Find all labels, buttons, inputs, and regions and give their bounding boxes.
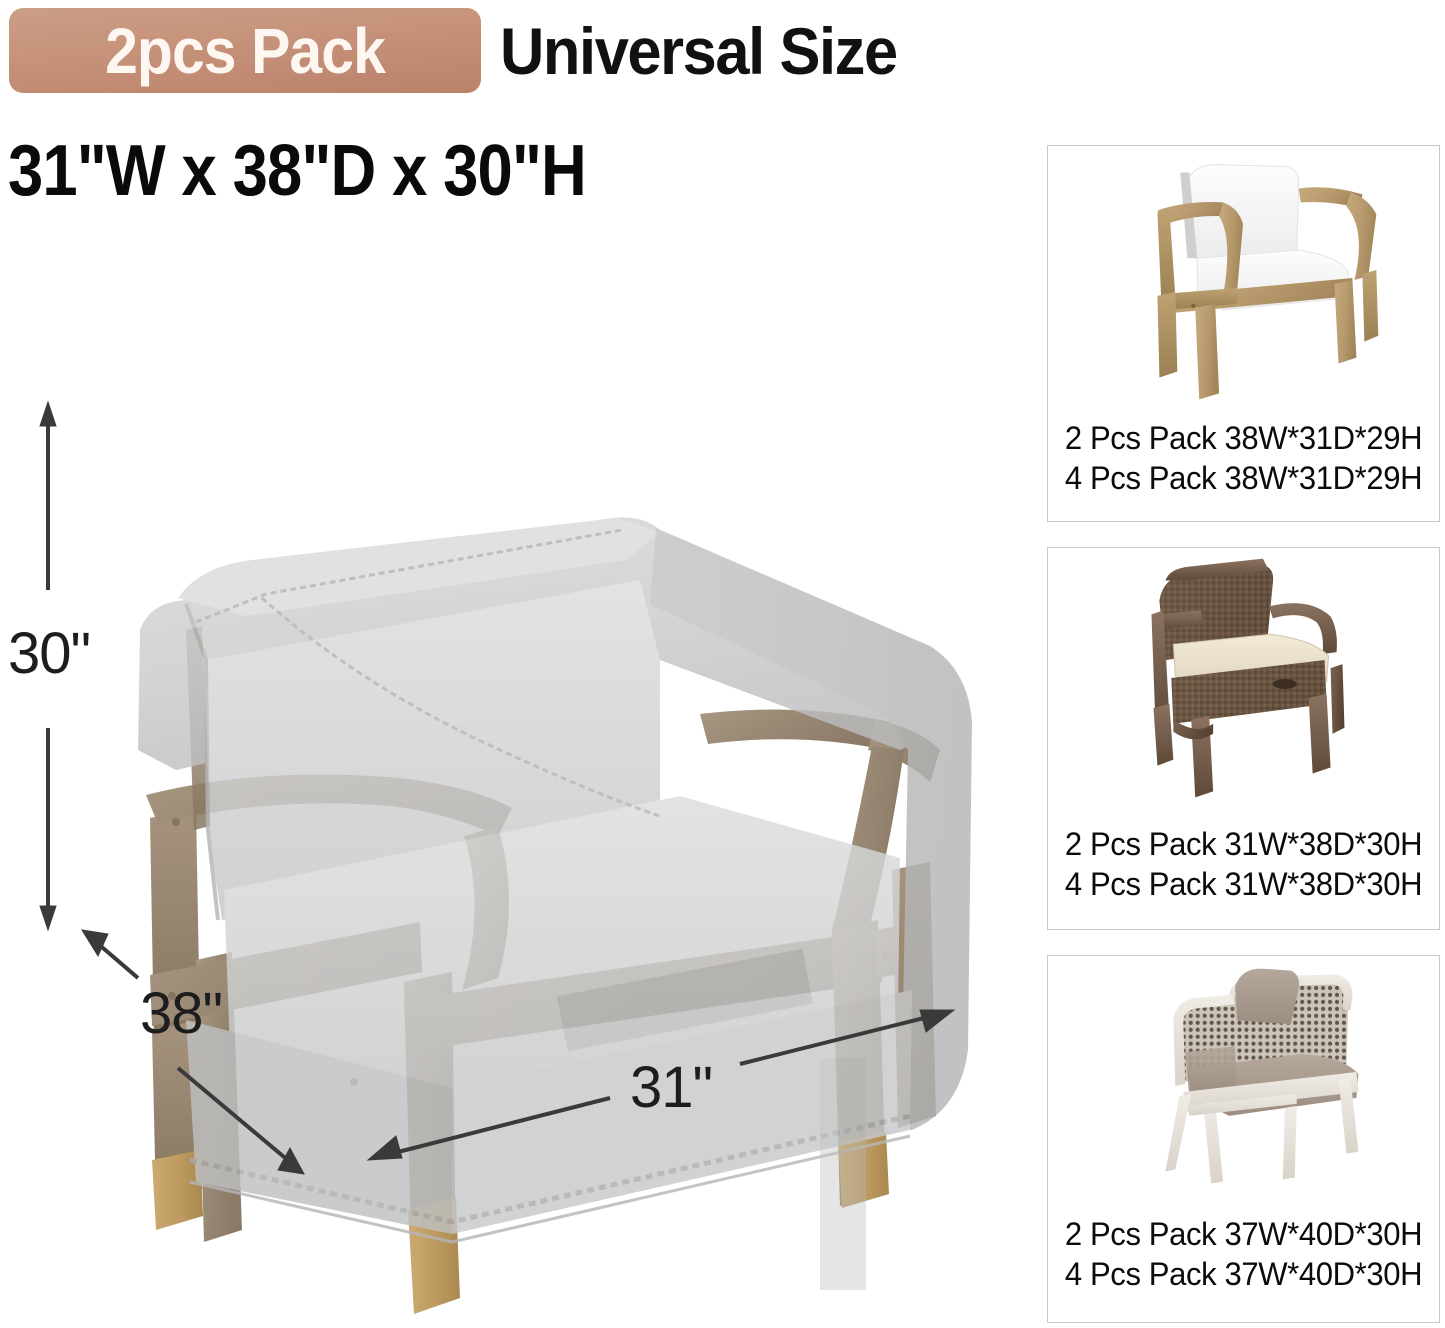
dimension-label-depth: 38" <box>140 980 222 1047</box>
taupe-rope-lounge-chair-image <box>1048 956 1439 1206</box>
page-title: Universal Size <box>500 8 897 93</box>
dimension-label-height: 30" <box>8 620 90 687</box>
gray-furniture-cover <box>138 518 972 1290</box>
hero-product-illustration: 30" 38" 31" <box>0 230 1020 1328</box>
panel-caption-line: 4 Pcs Pack 31W*38D*30H <box>1054 864 1433 904</box>
panel-caption-line: 2 Pcs Pack 31W*38D*30H <box>1054 824 1433 864</box>
size-option-panel[interactable]: 2 Pcs Pack 31W*38D*30H 4 Pcs Pack 31W*38… <box>1047 547 1440 930</box>
size-option-panel[interactable]: 2 Pcs Pack 38W*31D*29H 4 Pcs Pack 38W*31… <box>1047 145 1440 522</box>
teak-wood-chair-image <box>1048 146 1439 406</box>
header-block: 2pcs Pack Universal Size 31"W x 38"D x 3… <box>0 0 1050 215</box>
size-option-panel[interactable]: 2 Pcs Pack 37W*40D*30H 4 Pcs Pack 37W*40… <box>1047 955 1440 1323</box>
panel-caption-line: 4 Pcs Pack 38W*31D*29H <box>1054 458 1433 498</box>
panel-caption-line: 2 Pcs Pack 37W*40D*30H <box>1054 1214 1433 1254</box>
panel-caption-line: 2 Pcs Pack 38W*31D*29H <box>1054 418 1433 458</box>
dimension-label-width: 31" <box>630 1054 712 1121</box>
pack-count-badge-label: 2pcs Pack <box>28 8 462 93</box>
panel-caption-line: 4 Pcs Pack 37W*40D*30H <box>1054 1254 1433 1294</box>
brown-rattan-chair-image <box>1048 548 1439 814</box>
panel-caption: 2 Pcs Pack 38W*31D*29H 4 Pcs Pack 38W*31… <box>1048 418 1439 498</box>
pack-count-badge: 2pcs Pack <box>9 8 481 93</box>
page-subtitle-dimensions: 31"W x 38"D x 30"H <box>8 130 586 212</box>
panel-caption: 2 Pcs Pack 37W*40D*30H 4 Pcs Pack 37W*40… <box>1048 1214 1439 1294</box>
panel-caption: 2 Pcs Pack 31W*38D*30H 4 Pcs Pack 31W*38… <box>1048 824 1439 904</box>
